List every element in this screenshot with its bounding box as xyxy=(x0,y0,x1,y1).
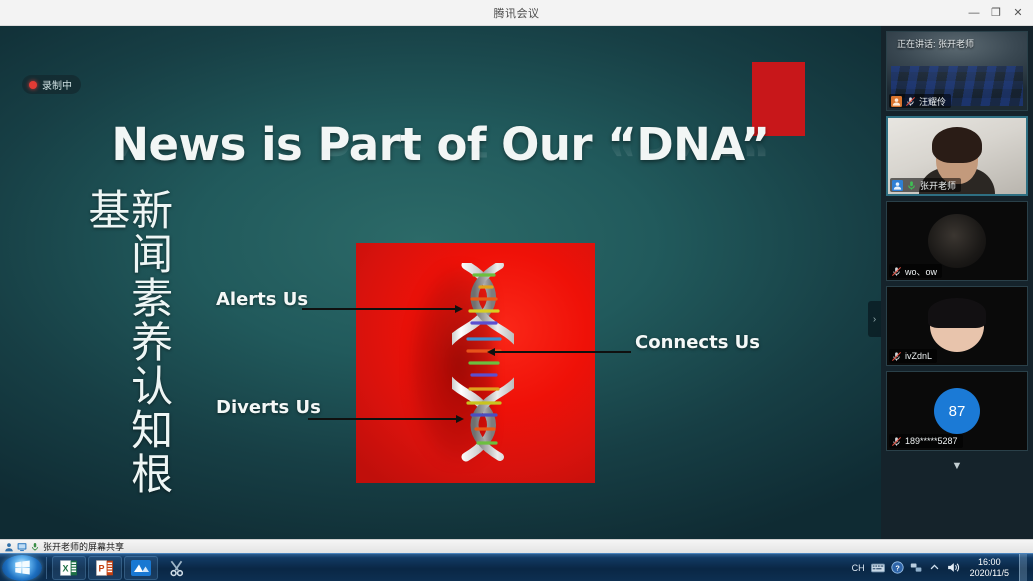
microphone-icon xyxy=(30,542,40,552)
leader-arrow-alerts xyxy=(455,305,463,313)
clock-date: 2020/11/5 xyxy=(970,568,1009,579)
screen-share-label: 张开老师的屏幕共享 xyxy=(43,540,124,553)
maximize-button[interactable]: ❐ xyxy=(985,3,1007,23)
svg-text:X: X xyxy=(62,563,68,573)
slide-title-reflection: News is Part of Our “DNA” xyxy=(0,135,881,165)
participant-name-badge: 189*****5287 xyxy=(889,434,963,448)
participant-name: 汪耀伶 xyxy=(919,95,946,108)
microphone-muted-icon xyxy=(905,96,916,107)
participant-tile[interactable]: ivZdnL xyxy=(886,286,1028,366)
clock-time: 16:00 xyxy=(970,557,1009,568)
keyboard-icon[interactable] xyxy=(871,562,885,574)
taskbar-item-tool[interactable] xyxy=(160,556,194,580)
clock[interactable]: 16:00 2020/11/5 xyxy=(966,557,1013,578)
slide-title-block: News is Part of Our “DNA” News is Part o… xyxy=(0,118,881,195)
excel-icon: X xyxy=(60,559,78,577)
close-button[interactable]: ✕ xyxy=(1007,3,1029,23)
microphone-active-icon xyxy=(906,180,917,191)
active-speaker-banner: 正在讲话: 张开老师 xyxy=(887,36,1027,51)
panel-collapse-chevron-icon[interactable]: › xyxy=(868,301,881,337)
callout-diverts-us: Diverts Us xyxy=(216,397,321,418)
screen-share-strip: 张开老师的屏幕共享 xyxy=(0,539,1033,553)
user-icon xyxy=(891,96,902,107)
participant-name-badge: 汪耀伶 xyxy=(889,94,951,108)
svg-text:P: P xyxy=(98,563,104,573)
taskbar-item-meeting[interactable] xyxy=(124,556,158,580)
participant-tile[interactable]: 张开老师 xyxy=(886,116,1028,196)
participant-name-badge: ivZdnL xyxy=(889,349,937,363)
minimize-button[interactable]: — xyxy=(963,3,985,23)
leader-arrow-connects xyxy=(487,348,495,356)
person-hair xyxy=(932,127,982,163)
system-tray: CH ? xyxy=(852,554,1033,581)
dna-image xyxy=(356,243,595,483)
callout-alerts-us: Alerts Us xyxy=(216,289,308,310)
callout-connects-us: Connects Us xyxy=(635,332,760,353)
user-icon xyxy=(4,542,14,552)
participant-tile[interactable]: 正在讲话: 张开老师 汪耀伶 xyxy=(886,31,1028,111)
window-title: 腾讯会议 xyxy=(494,5,540,21)
screen-share-icon xyxy=(17,542,27,552)
leader-arrow-diverts xyxy=(456,415,464,423)
dark-video-blob xyxy=(928,214,986,268)
svg-text:?: ? xyxy=(895,563,900,572)
avatar: 87 xyxy=(934,388,980,434)
dna-helix-graphic xyxy=(452,263,514,465)
microphone-muted-icon xyxy=(891,351,902,362)
meeting-stage: 录制中 News is Part of Our “DNA” News is Pa… xyxy=(0,26,1033,539)
network-icon[interactable] xyxy=(910,561,923,574)
recording-indicator: 录制中 xyxy=(22,75,81,94)
recording-dot-icon xyxy=(29,81,37,89)
microphone-muted-icon xyxy=(891,266,902,277)
participant-tile[interactable]: wo、ow xyxy=(886,201,1028,281)
snipping-tool-icon xyxy=(168,559,186,577)
scroll-down-icon[interactable]: ▼ xyxy=(886,456,1028,476)
title-bar: 腾讯会议 — ❐ ✕ xyxy=(0,0,1033,26)
windows-logo-icon xyxy=(14,559,31,576)
microphone-muted-icon xyxy=(891,436,902,447)
show-desktop-button[interactable] xyxy=(1019,554,1027,581)
windows-taskbar: X P xyxy=(0,553,1033,581)
participant-name: ivZdnL xyxy=(905,351,932,361)
recording-label: 录制中 xyxy=(42,77,72,92)
volume-icon[interactable] xyxy=(946,561,960,574)
avatar-hair xyxy=(928,298,986,328)
powerpoint-icon: P xyxy=(96,559,114,577)
leader-line-connects xyxy=(493,351,631,353)
participant-name-badge: 张开老师 xyxy=(890,178,961,192)
shared-screen-slide[interactable]: 录制中 News is Part of Our “DNA” News is Pa… xyxy=(0,26,881,539)
help-icon[interactable]: ? xyxy=(891,561,904,574)
window-controls: — ❐ ✕ xyxy=(963,0,1029,26)
taskbar-item-powerpoint[interactable]: P xyxy=(88,556,122,580)
start-button-icon[interactable] xyxy=(2,555,42,581)
participant-name: 189*****5287 xyxy=(905,436,958,446)
ime-indicator[interactable]: CH xyxy=(852,563,865,573)
leader-line-diverts xyxy=(308,418,458,420)
meeting-window: 腾讯会议 — ❐ ✕ 录制中 News is Part of Our “DNA”… xyxy=(0,0,1033,581)
user-icon xyxy=(892,180,903,191)
leader-line-alerts xyxy=(302,308,457,310)
participant-panel: 正在讲话: 张开老师 汪耀伶 xyxy=(881,26,1033,539)
taskbar-item-excel[interactable]: X xyxy=(52,556,86,580)
vertical-chinese-heading: 新闻素养认知根基 xyxy=(84,188,170,539)
chevron-up-icon[interactable] xyxy=(929,562,940,573)
taskbar-divider xyxy=(46,557,47,579)
meeting-app-icon xyxy=(131,559,151,577)
participant-name-badge: wo、ow xyxy=(889,264,942,278)
participant-name: wo、ow xyxy=(905,265,937,278)
participant-tile[interactable]: 87 189*****5287 xyxy=(886,371,1028,451)
participant-name: 张开老师 xyxy=(920,179,956,192)
